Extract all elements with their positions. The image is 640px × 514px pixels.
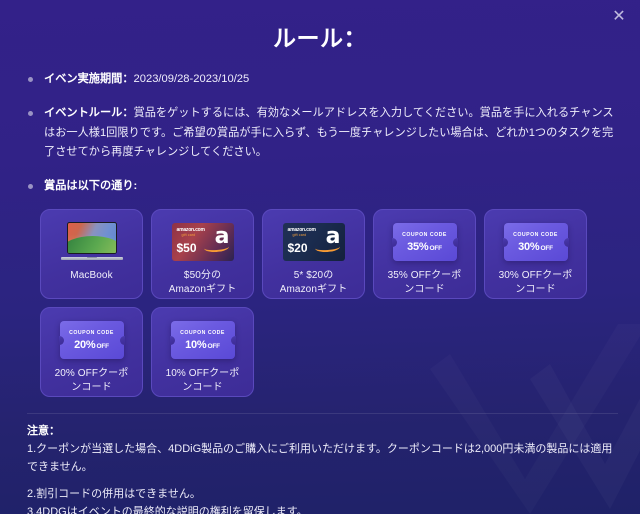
coupon-off-label: OFF bbox=[208, 343, 220, 350]
coupon-percent-label: 35%OFF bbox=[407, 241, 442, 253]
rule-separator: ： bbox=[122, 73, 133, 85]
notes-line-1: 1.クーポンが当選した場合、4DDiG製品のご購入にご利用いただけます。クーポン… bbox=[27, 441, 618, 477]
page-title: ルール： bbox=[0, 0, 640, 53]
notes-line-2: 2.割引コードの併用はできません。 bbox=[27, 486, 618, 504]
coupon-off-label: OFF bbox=[97, 343, 109, 350]
coupon-ticket-icon: COUPON CODE 10%OFF bbox=[171, 318, 235, 362]
notes-line-3: 3.4DDGはイベントの最終的な説明の権利を留保します。 bbox=[27, 504, 618, 514]
prize-name: 10% OFFクーポ ンコード bbox=[158, 367, 248, 393]
amazon-amount-label: $50 bbox=[177, 241, 197, 255]
coupon-percent-value: 20% bbox=[74, 339, 95, 351]
coupon-off-label: OFF bbox=[541, 245, 553, 252]
coupon-ticket-icon: COUPON CODE 20%OFF bbox=[60, 318, 124, 362]
rule-body: 2023/09/28-2023/10/25 bbox=[134, 73, 250, 85]
amazon-smile-icon bbox=[203, 242, 229, 253]
rules-modal: ✕ ルール： イベン実施期間：2023/09/28-2023/10/25 イベン… bbox=[0, 0, 640, 514]
rule-text: イベン実施期間：2023/09/28-2023/10/25 bbox=[44, 70, 618, 89]
amazon-amount-label: $20 bbox=[288, 241, 308, 255]
rule-text: 賞品は以下の通り: bbox=[44, 177, 618, 196]
prize-name: $50分の Amazonギフト bbox=[158, 269, 248, 295]
rule-separator: ： bbox=[122, 107, 133, 119]
amazon-smile-icon bbox=[314, 242, 340, 253]
macbook-icon bbox=[61, 220, 123, 264]
coupon-head-label: COUPON CODE bbox=[513, 232, 558, 238]
coupon-percent-label: 30%OFF bbox=[518, 241, 553, 253]
coupon-head-label: COUPON CODE bbox=[180, 330, 225, 336]
amazon-gift-card-icon: amazon.com gift card $50 a bbox=[172, 220, 234, 264]
rule-item-period: イベン実施期間：2023/09/28-2023/10/25 bbox=[24, 70, 618, 89]
prize-card-coupon-20[interactable]: COUPON CODE 20%OFF 20% OFFクーポ ンコード bbox=[40, 307, 143, 397]
prize-name: 20% OFFクーポ ンコード bbox=[47, 367, 137, 393]
bullet-dot-icon bbox=[28, 184, 33, 189]
amazon-giftcard-label: gift card bbox=[293, 233, 307, 237]
notes-heading: 注意： bbox=[27, 422, 618, 438]
coupon-head-label: COUPON CODE bbox=[402, 232, 447, 238]
prize-card-macbook[interactable]: MacBook bbox=[40, 209, 143, 299]
rule-text: イベントルール：賞品をゲットするには、有効なメールアドレスを入力してください。賞… bbox=[44, 104, 618, 162]
prize-card-coupon-35[interactable]: COUPON CODE 35%OFF 35% OFFクーポ ンコード bbox=[373, 209, 476, 299]
prize-grid: MacBook amazon.com gift card $50 a $50分の… bbox=[0, 204, 640, 397]
prize-name: MacBook bbox=[47, 269, 137, 282]
bullet-dot-icon bbox=[28, 111, 33, 116]
bullet-dot-icon bbox=[28, 77, 33, 82]
coupon-head-label: COUPON CODE bbox=[69, 330, 114, 336]
coupon-ticket-icon: COUPON CODE 30%OFF bbox=[504, 220, 568, 264]
prize-name: 35% OFFクーポ ンコード bbox=[380, 269, 470, 295]
amazon-giftcard-label: gift card bbox=[182, 233, 196, 237]
coupon-percent-value: 30% bbox=[518, 241, 539, 253]
notes-section: 注意： 1.クーポンが当選した場合、4DDiG製品のご購入にご利用いただけます。… bbox=[0, 414, 640, 514]
prize-card-amazon-20[interactable]: amazon.com gift card $20 a 5* $20の Amazo… bbox=[262, 209, 365, 299]
amazon-gift-card-icon: amazon.com gift card $20 a bbox=[283, 220, 345, 264]
rule-item-prizes-heading: 賞品は以下の通り: bbox=[24, 177, 618, 196]
rule-label: 賞品は以下の通り: bbox=[44, 180, 137, 192]
prize-name: 30% OFFクーポ ンコード bbox=[491, 269, 581, 295]
rule-label: イベン実施期間 bbox=[44, 73, 122, 85]
prize-card-coupon-30[interactable]: COUPON CODE 30%OFF 30% OFFクーポ ンコード bbox=[484, 209, 587, 299]
prize-card-amazon-50[interactable]: amazon.com gift card $50 a $50分の Amazonギ… bbox=[151, 209, 254, 299]
coupon-percent-label: 20%OFF bbox=[74, 339, 109, 351]
rules-list: イベン実施期間：2023/09/28-2023/10/25 イベントルール：賞品… bbox=[0, 70, 640, 196]
close-icon[interactable]: ✕ bbox=[608, 6, 630, 28]
coupon-percent-value: 10% bbox=[185, 339, 206, 351]
coupon-percent-value: 35% bbox=[407, 241, 428, 253]
rule-label: イベントルール bbox=[44, 107, 122, 119]
rule-item-eventrule: イベントルール：賞品をゲットするには、有効なメールアドレスを入力してください。賞… bbox=[24, 104, 618, 162]
coupon-off-label: OFF bbox=[430, 245, 442, 252]
prize-card-coupon-10[interactable]: COUPON CODE 10%OFF 10% OFFクーポ ンコード bbox=[151, 307, 254, 397]
coupon-percent-label: 10%OFF bbox=[185, 339, 220, 351]
coupon-ticket-icon: COUPON CODE 35%OFF bbox=[393, 220, 457, 264]
prize-name: 5* $20の Amazonギフト bbox=[269, 269, 359, 295]
